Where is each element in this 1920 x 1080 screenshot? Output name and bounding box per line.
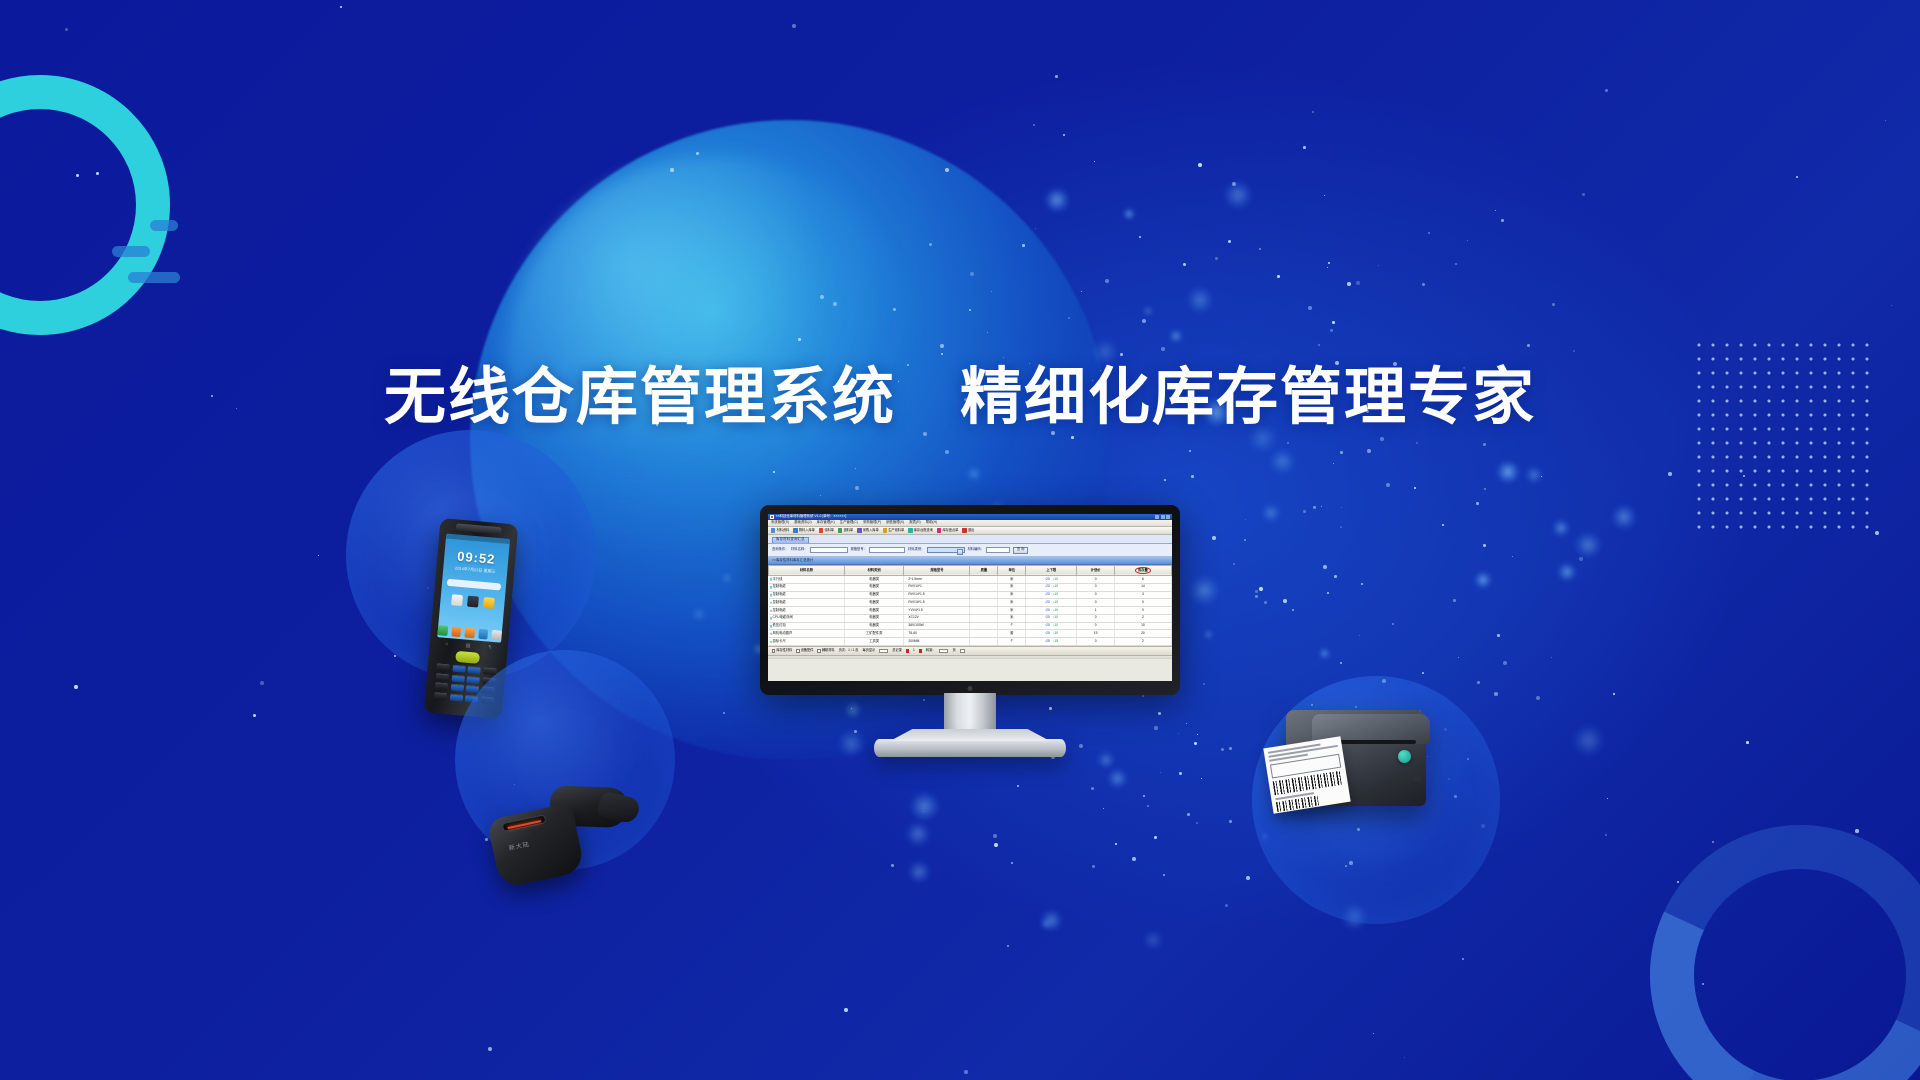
cell-quality — [970, 576, 998, 584]
particle — [1142, 319, 1146, 323]
particle — [1327, 267, 1328, 268]
particle — [1179, 772, 1182, 775]
horizontal-scrollbar[interactable] — [768, 655, 1172, 659]
row-status-icon — [770, 586, 773, 589]
cell-unit: 套 — [998, 630, 1026, 638]
particle — [1712, 841, 1714, 843]
particle — [991, 291, 992, 292]
next-page-button[interactable] — [919, 649, 922, 652]
monitor-screen: ××科技仓库材料管理系统 V1.0 [单号：××××××] 系统管理(S)基础资… — [768, 514, 1172, 681]
particle — [1536, 696, 1540, 700]
highlight-marker: 库存量 — [1135, 567, 1152, 573]
status-bar[interactable]: 库存性材料设备配件辅助材料页次：1 / 1 页每页显示总记录1转到：页 — [768, 646, 1172, 655]
particle — [696, 152, 699, 155]
particle — [1163, 874, 1165, 876]
particle — [1154, 726, 1158, 730]
particle — [1327, 592, 1329, 594]
material-code-input[interactable] — [986, 547, 1010, 553]
menu-item-1[interactable]: 基础资料(J) — [794, 521, 812, 525]
grid-settings-icon[interactable] — [960, 649, 965, 654]
menu-item-7[interactable]: 帮助(H) — [926, 521, 938, 525]
menu-item-3[interactable]: 生产管理(C) — [840, 521, 858, 525]
cell-spec: RVV14*1.5 — [904, 591, 970, 599]
particle — [318, 555, 319, 556]
toolbar-button-5[interactable]: 生产领料单 — [883, 528, 905, 532]
column-header-上下限[interactable]: 上下限 — [1026, 565, 1077, 575]
toolbar-button-7[interactable]: 库存盘点单 — [937, 528, 959, 532]
prev-page-button[interactable] — [906, 649, 909, 652]
bokeh-particle — [1044, 187, 1070, 213]
particle — [1071, 436, 1074, 439]
spec-input[interactable] — [869, 547, 905, 553]
pda-dock-browser-icon[interactable] — [465, 628, 475, 639]
particle — [844, 1008, 848, 1012]
particle — [1380, 437, 1384, 441]
cell-category: 工具类 — [844, 638, 903, 646]
pda-key-12[interactable] — [434, 692, 448, 700]
particle — [1483, 443, 1486, 446]
particle — [1582, 193, 1585, 196]
cell-quality — [970, 630, 998, 638]
row-status-icon — [770, 578, 773, 581]
particle — [1613, 693, 1615, 695]
pda-key-4[interactable] — [436, 673, 450, 681]
cell-price: 0 — [1077, 591, 1114, 599]
table-row[interactable]: 平行线电器类2*1.5mm米↑20↓1006 — [769, 576, 1172, 584]
pda-dock-messages-icon[interactable] — [451, 626, 461, 637]
particle — [1552, 303, 1555, 306]
particle — [1229, 747, 1232, 750]
pda-dock-apps-icon[interactable] — [492, 630, 502, 641]
particle — [1330, 329, 1333, 332]
row-status-icon — [770, 594, 773, 597]
pda-key-8[interactable] — [435, 682, 449, 690]
tab-inventory-query[interactable]: 库存材料查询汇总 — [772, 537, 809, 544]
toolbar-icon-8 — [962, 528, 966, 532]
scanner-head: 新大陆 — [487, 802, 586, 888]
particle — [923, 699, 925, 701]
status-checkbox-1[interactable]: 设备配件 — [796, 649, 813, 653]
cell-material-name: 控制电缆 — [769, 599, 845, 607]
toolbar-button-3[interactable]: 退料单 — [838, 528, 853, 532]
particle — [1154, 836, 1157, 839]
cell-category: 电器类 — [844, 599, 903, 607]
checkbox-icon-1[interactable] — [796, 649, 799, 652]
cell-price: 19 — [1077, 630, 1114, 638]
pda-dock-contacts-icon[interactable] — [478, 629, 488, 640]
status-checkbox-2[interactable]: 辅助材料 — [817, 649, 834, 653]
pda-key-13[interactable] — [449, 693, 463, 701]
cell-material-name: 游标卡尺 — [769, 638, 845, 646]
particle — [1017, 785, 1019, 787]
cell-price: 0 — [1077, 622, 1114, 630]
menu-item-2[interactable]: 库存管理(K) — [817, 521, 835, 525]
particle — [1340, 526, 1342, 528]
particle — [1229, 820, 1232, 823]
cell-category: 电器类 — [844, 583, 903, 591]
menu-item-0[interactable]: 系统管理(S) — [771, 521, 789, 525]
particle — [1068, 317, 1070, 319]
row-status-icon — [770, 601, 773, 604]
toolbar-icon-2 — [819, 528, 823, 532]
particle — [773, 471, 775, 473]
cell-material-name: 低压灯泡 — [769, 622, 845, 630]
label-printer — [1268, 700, 1428, 818]
status-checkbox-0[interactable]: 库存性材料 — [772, 649, 792, 653]
particle — [1476, 502, 1479, 505]
scanner-logo: 新大陆 — [508, 839, 530, 852]
bokeh-particle — [1040, 909, 1063, 932]
jump-to-input[interactable] — [939, 649, 948, 654]
cell-category: 电器类 — [844, 622, 903, 630]
particle — [1328, 262, 1330, 264]
particle — [1245, 519, 1246, 520]
cell-limits: ↑20↓10 — [1026, 614, 1077, 622]
checkbox-icon-2[interactable] — [817, 649, 820, 652]
search-button[interactable]: 查 询 — [1013, 547, 1029, 554]
particle — [1147, 805, 1149, 807]
bokeh-particle — [1107, 768, 1128, 789]
particle — [1283, 599, 1287, 603]
particle — [1677, 881, 1679, 883]
particle — [1103, 808, 1104, 809]
particle — [1341, 507, 1342, 508]
column-header-质量[interactable]: 质量 — [970, 565, 998, 575]
cell-unit: 米 — [998, 583, 1026, 591]
menu-bar[interactable]: 系统管理(S)基础资料(J)库存管理(K)生产管理(C)采购管理(P)销售管理(… — [768, 520, 1172, 527]
tab-strip[interactable]: 库存材料查询汇总 — [768, 535, 1172, 544]
bokeh-particle — [1557, 562, 1577, 582]
particle — [820, 295, 824, 299]
toolbar-button-0[interactable]: 材料资料 — [771, 528, 789, 532]
cell-quality — [970, 591, 998, 599]
pda-app-icon-2[interactable] — [467, 596, 479, 608]
toolbar-icon-4 — [857, 528, 861, 532]
pda-key-1[interactable] — [452, 665, 466, 673]
pda-menu-icon[interactable]: ▤ — [465, 643, 470, 649]
toolbar-button-1[interactable]: 物料入库单 — [793, 528, 815, 532]
menu-item-4[interactable]: 采购管理(P) — [863, 521, 881, 525]
particle — [820, 495, 821, 496]
pda-app-icon-1[interactable] — [451, 594, 463, 606]
material-name-input[interactable] — [810, 547, 848, 553]
cell-price: 0 — [1077, 583, 1114, 591]
filter-label-spec: 规格型号： — [850, 548, 866, 552]
bokeh-particle — [844, 701, 862, 719]
cell-limits: ↑20↓10 — [1026, 607, 1077, 615]
particle — [1194, 742, 1197, 745]
inventory-table: 材料名称材料类别规格型号质量单位上下限计划价库存量 平行线电器类2*1.5mm米… — [768, 565, 1172, 646]
cell-price: 0 — [1077, 614, 1114, 622]
particle — [1259, 248, 1261, 250]
bokeh-particle — [1496, 460, 1520, 484]
pda-key-2[interactable] — [467, 666, 481, 674]
checkbox-label-2: 辅助材料 — [822, 649, 835, 653]
toolbar-icon-6 — [908, 528, 912, 532]
pda-screen: 09:52 2014年7月23日 星期三 — [437, 534, 510, 643]
particle — [798, 338, 801, 341]
filter-label-category: 材料类别： — [908, 548, 924, 552]
cell-spec: 36V/100W — [904, 622, 970, 630]
particle — [1332, 321, 1335, 324]
toolbar-label-1: 物料入库单 — [799, 529, 815, 533]
particle — [1139, 236, 1141, 238]
particle — [1215, 257, 1218, 260]
particle — [1313, 506, 1316, 509]
table-row[interactable]: 低压灯泡电器类36V/100W个↑20↓10010 — [769, 622, 1172, 630]
particle — [1386, 483, 1390, 487]
cell-category: 电器类 — [844, 607, 903, 615]
particle — [855, 486, 859, 490]
checkbox-label-1: 设备配件 — [801, 649, 814, 653]
toolbar-button-6[interactable]: 库存台账查询 — [908, 528, 933, 532]
particle — [1340, 662, 1342, 664]
pda-app-icon-3[interactable] — [482, 597, 494, 609]
cell-limits: ↑25↓15 — [1026, 638, 1077, 646]
bokeh-particle — [1189, 575, 1220, 606]
particle — [1158, 712, 1161, 715]
restore-icon[interactable] — [1161, 515, 1165, 519]
tool-bar[interactable]: 材料资料物料入库单领料单退料单采购入库单生产领料单库存台账查询库存盘点单退出 — [768, 527, 1172, 535]
particle — [1503, 661, 1507, 665]
column-header-单位[interactable]: 单位 — [998, 565, 1026, 575]
column-header-计划价[interactable]: 计划价 — [1077, 565, 1114, 575]
particle — [1334, 575, 1337, 578]
cell-category: 电器类 — [844, 576, 903, 584]
particle — [1605, 89, 1608, 92]
bokeh-particle — [1269, 448, 1296, 475]
app-icon — [770, 515, 774, 519]
toolbar-icon-3 — [838, 528, 842, 532]
particle — [1221, 748, 1224, 751]
menu-item-5[interactable]: 销售管理(X) — [886, 521, 904, 525]
particle — [1855, 829, 1859, 833]
bokeh-particle — [907, 860, 931, 884]
particle — [1885, 120, 1886, 121]
bokeh-particle — [1474, 571, 1492, 589]
particle — [1160, 772, 1161, 773]
cell-stock: 0 — [1114, 607, 1171, 615]
particle — [1079, 744, 1083, 748]
table-row[interactable]: 控制电缆电器类YVV4*1.5米↑20↓1010 — [769, 607, 1172, 615]
particle — [1186, 723, 1187, 724]
particle — [1453, 599, 1456, 602]
particle — [1198, 163, 1202, 167]
column-header-材料类别[interactable]: 材料类别 — [844, 565, 903, 575]
bokeh-particle — [1204, 630, 1213, 639]
cell-stock: 2 — [1114, 614, 1171, 622]
cell-price: 0 — [1077, 576, 1114, 584]
cell-unit: 个 — [998, 622, 1026, 630]
column-header-材料名称[interactable]: 材料名称 — [769, 565, 845, 575]
cell-material-name: CPU电缆浮阀 — [769, 614, 845, 622]
particle — [987, 332, 988, 333]
particle — [855, 468, 856, 469]
particle — [1875, 531, 1879, 535]
particle — [1308, 306, 1312, 310]
category-select[interactable] — [927, 547, 965, 553]
bokeh-particle — [1143, 306, 1153, 316]
pda-key-6[interactable] — [467, 675, 481, 683]
row-status-icon — [770, 617, 773, 620]
cell-stock: 14 — [1114, 583, 1171, 591]
pda-app-icons[interactable] — [440, 593, 505, 610]
pda-key-0[interactable] — [436, 663, 450, 671]
scanner-window-icon — [502, 814, 547, 832]
particle — [1746, 741, 1749, 744]
group-header: >>库存性材料库存汇总统计 — [768, 557, 1172, 565]
menu-item-6[interactable]: 报表(R) — [909, 521, 921, 525]
particle — [1422, 672, 1424, 674]
bokeh-particle — [1319, 648, 1330, 659]
table-row[interactable]: 游标卡尺工具类200MM个↑25↓1502 — [769, 638, 1172, 646]
particle — [1796, 176, 1798, 178]
column-header-库存量[interactable]: 库存量 — [1114, 565, 1171, 575]
bokeh-particle — [966, 466, 982, 482]
rows-per-page-input[interactable] — [879, 649, 888, 654]
cell-spec: 2*1.5mm — [904, 576, 970, 584]
table-row[interactable]: 控制电缆电器类RVV14*1.5米↑20↓1003 — [769, 591, 1172, 599]
window-controls[interactable] — [1155, 515, 1170, 519]
particle — [1196, 822, 1198, 824]
particle — [1187, 813, 1190, 816]
bokeh-particle — [1611, 504, 1637, 530]
particle — [1183, 263, 1186, 266]
cell-price: 0 — [1077, 638, 1114, 646]
particle — [1011, 862, 1013, 864]
pda-key-9[interactable] — [450, 683, 464, 691]
particle — [1416, 442, 1418, 444]
cell-quality — [970, 599, 998, 607]
particle — [893, 308, 896, 311]
toolbar-button-4[interactable]: 采购入库单 — [857, 528, 879, 532]
particle — [1225, 904, 1228, 907]
particle — [1455, 263, 1457, 265]
minimize-icon[interactable] — [1155, 515, 1159, 519]
toolbar-icon-7 — [937, 528, 941, 532]
particle — [1143, 795, 1145, 797]
particle — [1264, 601, 1267, 604]
particle — [1551, 657, 1552, 658]
particle — [1203, 683, 1205, 685]
toolbar-button-8[interactable]: 退出 — [962, 528, 974, 532]
pda-scan-button[interactable] — [455, 651, 480, 664]
particle — [1092, 865, 1095, 868]
total-records-value: 1 — [913, 649, 915, 653]
cell-spec: RVV10*1 — [904, 583, 970, 591]
printer-feed-button[interactable] — [1412, 776, 1422, 781]
particle — [1233, 563, 1235, 565]
particle — [1303, 510, 1306, 513]
row-status-icon — [770, 625, 773, 628]
cell-material-name: 控制电缆 — [769, 607, 845, 615]
particle — [74, 685, 78, 689]
cell-quality — [970, 607, 998, 615]
particle — [1035, 228, 1036, 229]
particle — [1501, 219, 1504, 222]
toolbar-button-2[interactable]: 领料单 — [819, 528, 834, 532]
cell-limits: ↑20↓10 — [1026, 591, 1077, 599]
particle — [891, 864, 894, 867]
particle — [792, 24, 796, 28]
bokeh-particle — [1572, 724, 1605, 757]
toolbar-label-5: 生产领料单 — [888, 529, 904, 533]
particle — [1255, 590, 1258, 593]
particle — [1105, 279, 1109, 283]
particle — [1228, 240, 1231, 243]
toolbar-label-0: 材料资料 — [777, 529, 790, 533]
particle — [929, 243, 932, 246]
cell-stock: 0 — [1114, 599, 1171, 607]
particle — [1094, 161, 1095, 162]
column-header-规格型号[interactable]: 规格型号 — [904, 565, 970, 575]
particle — [1212, 536, 1216, 540]
particle — [1321, 506, 1322, 507]
filter-bar[interactable]: 查询条件： 材料名称： 规格型号： 材料类别： 材料编码： 查 询 — [768, 544, 1172, 557]
particle — [340, 6, 342, 8]
table-row[interactable]: 控制电缆电器类RVV10*1米↑20↓10014 — [769, 583, 1172, 591]
cell-limits: ↑20↓10 — [1026, 630, 1077, 638]
cell-stock: 10 — [1114, 622, 1171, 630]
pda-home-icon[interactable]: ⌂ — [445, 641, 449, 647]
particle — [1255, 595, 1258, 598]
bokeh-particle — [692, 607, 706, 621]
particle — [1668, 472, 1672, 476]
bokeh-particle — [1097, 751, 1115, 769]
table-row[interactable]: 风机电动葫芦工矿配件类T6-60套↑20↓101920 — [769, 630, 1172, 638]
particle — [1303, 146, 1306, 149]
particle — [1324, 195, 1325, 196]
particle — [1340, 451, 1343, 454]
particle — [1049, 707, 1052, 710]
printer-knob-icon[interactable] — [1398, 750, 1411, 763]
particle — [1497, 634, 1500, 637]
particle — [1022, 244, 1025, 247]
particle — [1428, 232, 1430, 234]
particle — [1323, 565, 1327, 569]
particle — [945, 450, 949, 454]
close-icon[interactable] — [1166, 515, 1170, 519]
pda-search-widget[interactable] — [447, 579, 501, 591]
particle — [1414, 487, 1416, 489]
checkbox-icon-0[interactable] — [772, 649, 775, 652]
bokeh-particle — [1123, 208, 1135, 220]
cell-limits: ↑20↓10 — [1026, 583, 1077, 591]
pda-dock-phone-icon[interactable] — [437, 625, 447, 636]
pda-back-icon[interactable]: ↰ — [487, 645, 492, 651]
pda-key-5[interactable] — [451, 674, 465, 682]
toolbar-icon-0 — [771, 528, 775, 532]
page-indicator: 页次：1 / 1 页 — [839, 649, 859, 653]
bokeh-particle — [905, 821, 931, 847]
cell-material-name: 控制电缆 — [769, 583, 845, 591]
table-row[interactable]: 控制电缆电器类RVV16*1.5米↑20↓1000 — [769, 599, 1172, 607]
particle — [1063, 134, 1065, 136]
particle — [1891, 305, 1892, 306]
cell-material-name: 控制电缆 — [769, 591, 845, 599]
particle — [1462, 958, 1464, 960]
cell-spec: 200MM — [904, 638, 970, 646]
table-row[interactable]: CPU电缆浮阀电器类XC12V米↑20↓1002 — [769, 614, 1172, 622]
page-title: 无线仓库管理系统 精细化库存管理专家 — [0, 346, 1920, 436]
cell-spec: RVV16*1.5 — [904, 599, 970, 607]
filter-label-material-name: 材料名称： — [791, 548, 807, 552]
particle — [1333, 463, 1334, 464]
cell-material-name: 平行线 — [769, 576, 845, 584]
particle — [969, 309, 971, 311]
particle — [1607, 798, 1608, 799]
cell-unit: 米 — [998, 591, 1026, 599]
